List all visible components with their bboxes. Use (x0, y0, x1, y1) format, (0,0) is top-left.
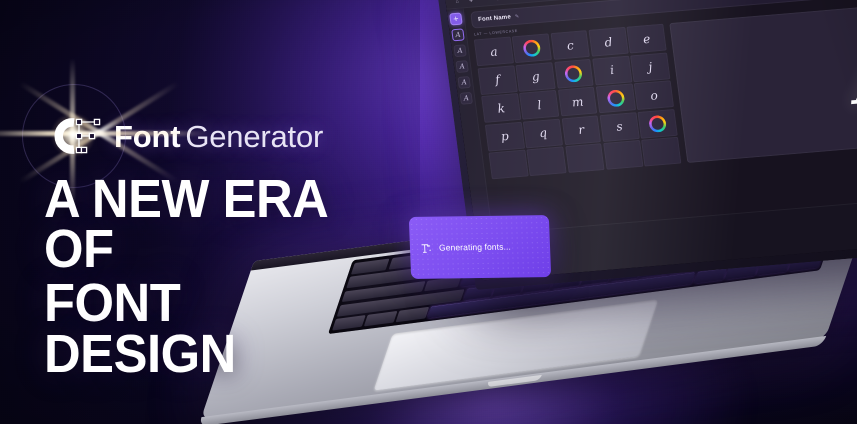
headline-line-1: A NEW ERA OF (44, 174, 382, 274)
sidebar-item-font-4[interactable]: A (457, 76, 471, 89)
glyph-char: r (577, 123, 585, 137)
loading-spinner-icon (648, 114, 667, 132)
glyph-cell-loading[interactable] (596, 83, 636, 113)
glyph-char: s (615, 119, 623, 133)
glyph-cell[interactable]: g (516, 62, 556, 92)
glyph-char: i (609, 63, 615, 77)
glyph-cell[interactable]: s (599, 112, 639, 142)
sidebar-item-font-3[interactable]: A (455, 60, 469, 73)
loading-spinner-icon (522, 39, 541, 57)
glyph-cell-loading[interactable] (512, 33, 552, 63)
glyph-char: l (537, 98, 543, 112)
magic-type-icon (420, 242, 432, 254)
glyph-cell[interactable]: l (519, 90, 559, 120)
glyph-cell[interactable]: p (485, 121, 525, 151)
glyph-char: a (489, 44, 498, 58)
home-icon[interactable]: ⌂ (453, 0, 461, 5)
glyph-char: e (642, 31, 651, 45)
loading-spinner-icon (564, 64, 583, 82)
brand-wordmark: FontGenerator (114, 121, 323, 152)
glyph-char: p (500, 129, 509, 144)
pencil-icon[interactable]: ✎ (515, 13, 520, 19)
glyph-char: k (497, 101, 506, 115)
page-headline: A NEW ERA OF FONT DESIGN (44, 174, 404, 379)
glyph-cell[interactable] (603, 140, 643, 170)
scissors-icon[interactable]: ✂ (481, 0, 489, 3)
glyph-char: d (604, 35, 613, 50)
glyph-cell[interactable]: i (592, 55, 632, 85)
sidebar-item-new[interactable]: + (449, 13, 463, 26)
generating-toast: Generating fonts... (409, 215, 551, 279)
glyph-cell[interactable] (565, 143, 605, 173)
glyph-cell[interactable]: j (630, 52, 670, 82)
glyph-char: g (531, 69, 540, 84)
brand-lockup: FontGenerator (44, 112, 404, 160)
sidebar-item-label: A (457, 47, 463, 55)
glyph-char: j (648, 60, 654, 74)
preview-glyph: A (849, 38, 857, 114)
glyph-cell[interactable]: o (634, 80, 674, 110)
glyph-cell[interactable]: q (523, 118, 563, 148)
sidebar-item-label: A (459, 62, 465, 70)
sidebar-item-label: A (463, 94, 469, 102)
glyph-char: q (538, 126, 547, 141)
glyph-cell[interactable] (488, 150, 528, 180)
glyph-cell[interactable]: a (474, 36, 514, 66)
image-icon[interactable]: ▣ (495, 0, 503, 2)
glyph-char: m (571, 94, 584, 109)
sidebar-item-font-5[interactable]: A (459, 92, 473, 105)
sidebar-item-font-1[interactable]: A (451, 28, 465, 41)
sidebar-item-label: + (452, 15, 459, 23)
sidebar-item-label: A (455, 31, 461, 39)
glyph-grid: a c d e f g i j (474, 24, 682, 180)
vector-node-c-logo-icon (44, 113, 106, 159)
hero-banner: ⌂ Home ▦ Font Studio ✕ ▦ Generator... ✕ (0, 0, 857, 424)
glyph-cell[interactable]: e (627, 24, 667, 54)
glyph-cell[interactable]: m (557, 87, 597, 117)
glyph-cell-loading[interactable] (554, 58, 594, 88)
glyph-char: f (494, 73, 500, 87)
glyph-cell[interactable] (641, 137, 681, 167)
glyph-char: o (649, 88, 658, 102)
glyph-cell[interactable]: c (550, 30, 590, 60)
toast-message: Generating fonts... (439, 242, 511, 253)
plus-icon[interactable]: ✚ (467, 0, 475, 4)
glyph-cell-loading[interactable] (638, 108, 678, 138)
headline-line-2: FONT DESIGN (44, 278, 382, 378)
brand-word-generator: Generator (185, 119, 323, 154)
brand-word-font: Font (114, 119, 180, 154)
page-title: Font Name (478, 14, 512, 23)
glyph-cell[interactable]: d (588, 27, 628, 57)
glyph-cell[interactable]: f (477, 65, 517, 95)
glyph-char: c (566, 38, 575, 52)
promo-block: FontGenerator A NEW ERA OF FONT DESIGN (44, 112, 404, 379)
sidebar-item-label: A (461, 78, 467, 86)
sidebar-item-font-2[interactable]: A (453, 44, 467, 57)
glyph-preview: A (669, 0, 857, 163)
loading-spinner-icon (606, 89, 625, 107)
glyph-cell[interactable]: k (481, 93, 521, 123)
glyph-cell[interactable]: r (561, 115, 601, 145)
glyph-cell[interactable] (527, 146, 567, 176)
